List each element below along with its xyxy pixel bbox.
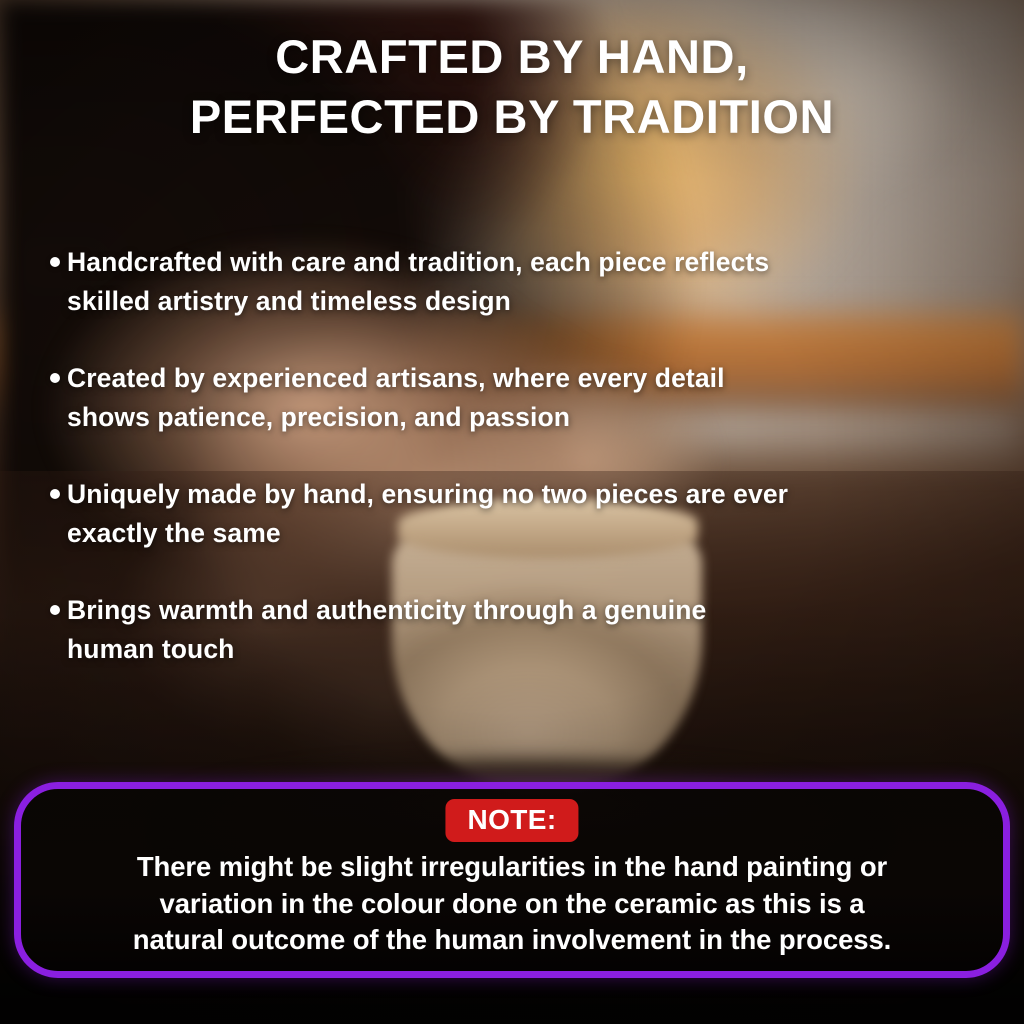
- list-item: Handcrafted with care and tradition, eac…: [50, 243, 990, 321]
- infographic-poster: CRAFTED BY HAND, PERFECTED BY TRADITION …: [0, 0, 1024, 1024]
- list-item-text: Handcrafted with care and tradition, eac…: [67, 243, 769, 321]
- note-line-3: natural outcome of the human involvement…: [39, 922, 985, 959]
- bullet-dot-icon: [50, 257, 60, 267]
- list-item-line-2: shows patience, precision, and passion: [67, 402, 570, 432]
- list-item: Brings warmth and authenticity through a…: [50, 591, 990, 669]
- list-item-line-2: human touch: [67, 634, 234, 664]
- list-item-line-2: exactly the same: [67, 518, 281, 548]
- list-item-text: Brings warmth and authenticity through a…: [67, 591, 706, 669]
- list-item-line-1: Created by experienced artisans, where e…: [67, 363, 725, 393]
- bullet-dot-icon: [50, 373, 60, 383]
- feature-bullet-list: Handcrafted with care and tradition, eac…: [50, 243, 990, 707]
- list-item: Uniquely made by hand, ensuring no two p…: [50, 475, 990, 553]
- bullet-dot-icon: [50, 605, 60, 615]
- list-item-line-2: skilled artistry and timeless design: [67, 286, 511, 316]
- list-item-text: Uniquely made by hand, ensuring no two p…: [67, 475, 788, 553]
- page-title-line-2: PERFECTED BY TRADITION: [40, 87, 984, 147]
- note-line-2: variation in the colour done on the cera…: [39, 886, 985, 923]
- list-item-line-1: Brings warmth and authenticity through a…: [67, 595, 706, 625]
- note-badge: NOTE:: [445, 799, 578, 842]
- bullet-dot-icon: [50, 489, 60, 499]
- page-title: CRAFTED BY HAND, PERFECTED BY TRADITION: [0, 27, 1024, 147]
- note-body-text: There might be slight irregularities in …: [39, 849, 985, 959]
- list-item-line-1: Uniquely made by hand, ensuring no two p…: [67, 479, 788, 509]
- list-item-line-1: Handcrafted with care and tradition, eac…: [67, 247, 769, 277]
- list-item: Created by experienced artisans, where e…: [50, 359, 990, 437]
- note-callout-box: NOTE: There might be slight irregulariti…: [14, 782, 1010, 978]
- note-line-1: There might be slight irregularities in …: [39, 849, 985, 886]
- list-item-text: Created by experienced artisans, where e…: [67, 359, 725, 437]
- page-title-line-1: CRAFTED BY HAND,: [40, 27, 984, 87]
